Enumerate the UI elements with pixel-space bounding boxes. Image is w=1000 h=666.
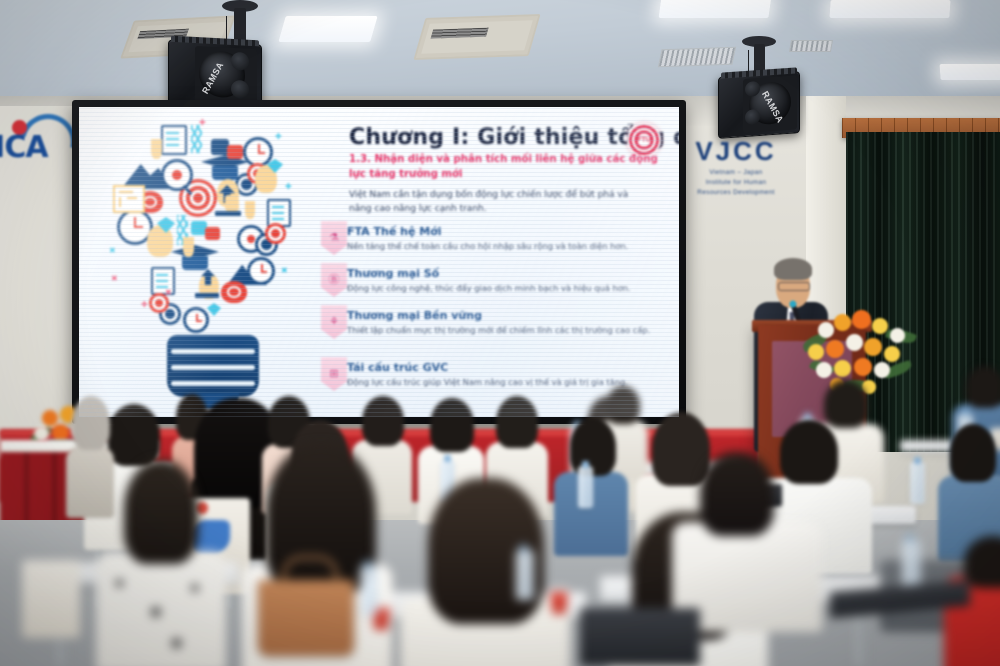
presentation-screen: ✖ ✖ ✚ ✚ ✚ ✚ ✖ ✖ Chương I: Giới thiệu tổn… bbox=[72, 100, 686, 424]
point-heading: Thương mại Số bbox=[347, 267, 665, 280]
vjcc-wordmark: VJCC bbox=[676, 138, 796, 164]
attendee bbox=[938, 424, 1000, 554]
vjcc-sub-line-3: Resources Development bbox=[676, 188, 796, 198]
jica-logo: JICA bbox=[0, 108, 80, 170]
handbag bbox=[258, 580, 354, 656]
point-detail: Thiết lập chuẩn mực thị trường mới để ch… bbox=[347, 324, 665, 336]
vjcc-sub-line-2: Institute for Human bbox=[676, 178, 796, 188]
jica-wordmark: JICA bbox=[0, 130, 48, 165]
point-glyph: ⚘ bbox=[329, 317, 339, 328]
vjcc-sub-line-1: Vietnam – Japan bbox=[676, 168, 796, 178]
point-detail: Động lực công nghệ, thúc đẩy giao dịch m… bbox=[347, 282, 665, 294]
slide-lead-text: Việt Nam cần tận dụng bốn động lực chiến… bbox=[349, 189, 649, 216]
presenter-glasses-icon bbox=[778, 282, 810, 291]
ceiling-panel-light bbox=[658, 0, 771, 18]
ceiling-panel-light bbox=[278, 16, 377, 42]
lightbulb-infographic: ✖ ✖ ✚ ✚ ✚ ✚ ✖ ✖ bbox=[95, 117, 335, 412]
water-bottle bbox=[578, 466, 593, 508]
slide-point: ⊞ Tái cấu trúc GVC Động lực cấu trúc giú… bbox=[347, 361, 665, 388]
point-glyph: ⊞ bbox=[329, 369, 338, 380]
slide-point: ⚘ Thương mại Bền vững Thiết lập chuẩn mự… bbox=[347, 309, 665, 336]
water-bottle bbox=[910, 462, 925, 504]
ftu-logo-icon bbox=[627, 123, 661, 157]
ceiling-panel-light bbox=[939, 64, 1000, 80]
slide-subtitle: 1.3. Nhận diện và phân tích mối liên hệ … bbox=[349, 153, 659, 183]
presenter-hair bbox=[774, 258, 812, 280]
attendee bbox=[400, 478, 570, 666]
point-heading: Tái cấu trúc GVC bbox=[347, 361, 665, 374]
slide-point: Ⓑ Thương mại Số Động lực công nghệ, thúc… bbox=[347, 267, 665, 294]
water-bottle bbox=[516, 550, 534, 600]
point-glyph: Ⓑ bbox=[329, 275, 340, 286]
white-handbag bbox=[22, 560, 80, 638]
slide-point: ⚗ FTA Thế hệ Mới Nền tảng thể chế toàn c… bbox=[347, 225, 665, 252]
bulb-base bbox=[167, 335, 259, 397]
point-heading: FTA Thế hệ Mới bbox=[347, 225, 665, 238]
ceiling-vent-strip bbox=[658, 47, 736, 68]
ceiling-panel-light bbox=[829, 0, 950, 18]
slide-canvas: ✖ ✖ ✚ ✚ ✚ ✚ ✖ ✖ Chương I: Giới thiệu tổn… bbox=[79, 107, 679, 417]
handbag-handle bbox=[282, 556, 338, 585]
attendee bbox=[672, 452, 822, 622]
attendee bbox=[96, 460, 226, 650]
water-bottle bbox=[360, 566, 378, 616]
laptop bbox=[580, 608, 700, 666]
conference-photo: RAMSA RAMSA JICA VJCC Vietnam – Japan In… bbox=[0, 0, 1000, 666]
vjcc-sign: VJCC Vietnam – Japan Institute for Human… bbox=[676, 138, 796, 200]
ac-vent bbox=[413, 14, 540, 60]
point-detail: Nền tảng thể chế toàn cầu cho hội nhập s… bbox=[347, 240, 665, 252]
point-heading: Thương mại Bền vững bbox=[347, 309, 665, 322]
point-glyph: ⚗ bbox=[329, 233, 339, 244]
ceiling-vent-strip bbox=[789, 40, 833, 52]
